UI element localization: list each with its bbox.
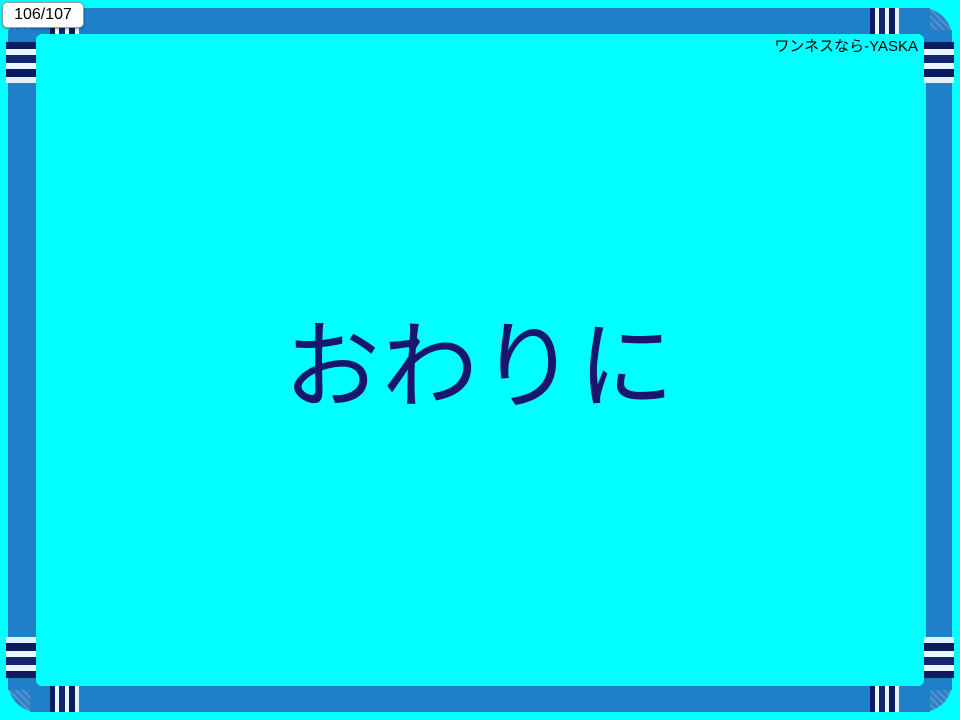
page-counter-badge[interactable]: 106/107 [2,2,84,28]
slide-content-area: ワンネスなら-YASKA おわりに [36,34,924,686]
frame-band-right [926,30,952,690]
slide-canvas: ワンネスなら-YASKA おわりに 106/107 [0,0,960,720]
stripe-ornament-right-top [924,42,954,100]
stripe-ornament-left-top [6,42,36,100]
presenter-tag: ワンネスなら-YASKA [774,38,918,56]
frame-band-left [8,30,36,690]
stripe-ornament-left-bottom [6,620,36,678]
slide-title: おわりに [36,312,924,422]
stripe-ornament-right-bottom [924,620,954,678]
